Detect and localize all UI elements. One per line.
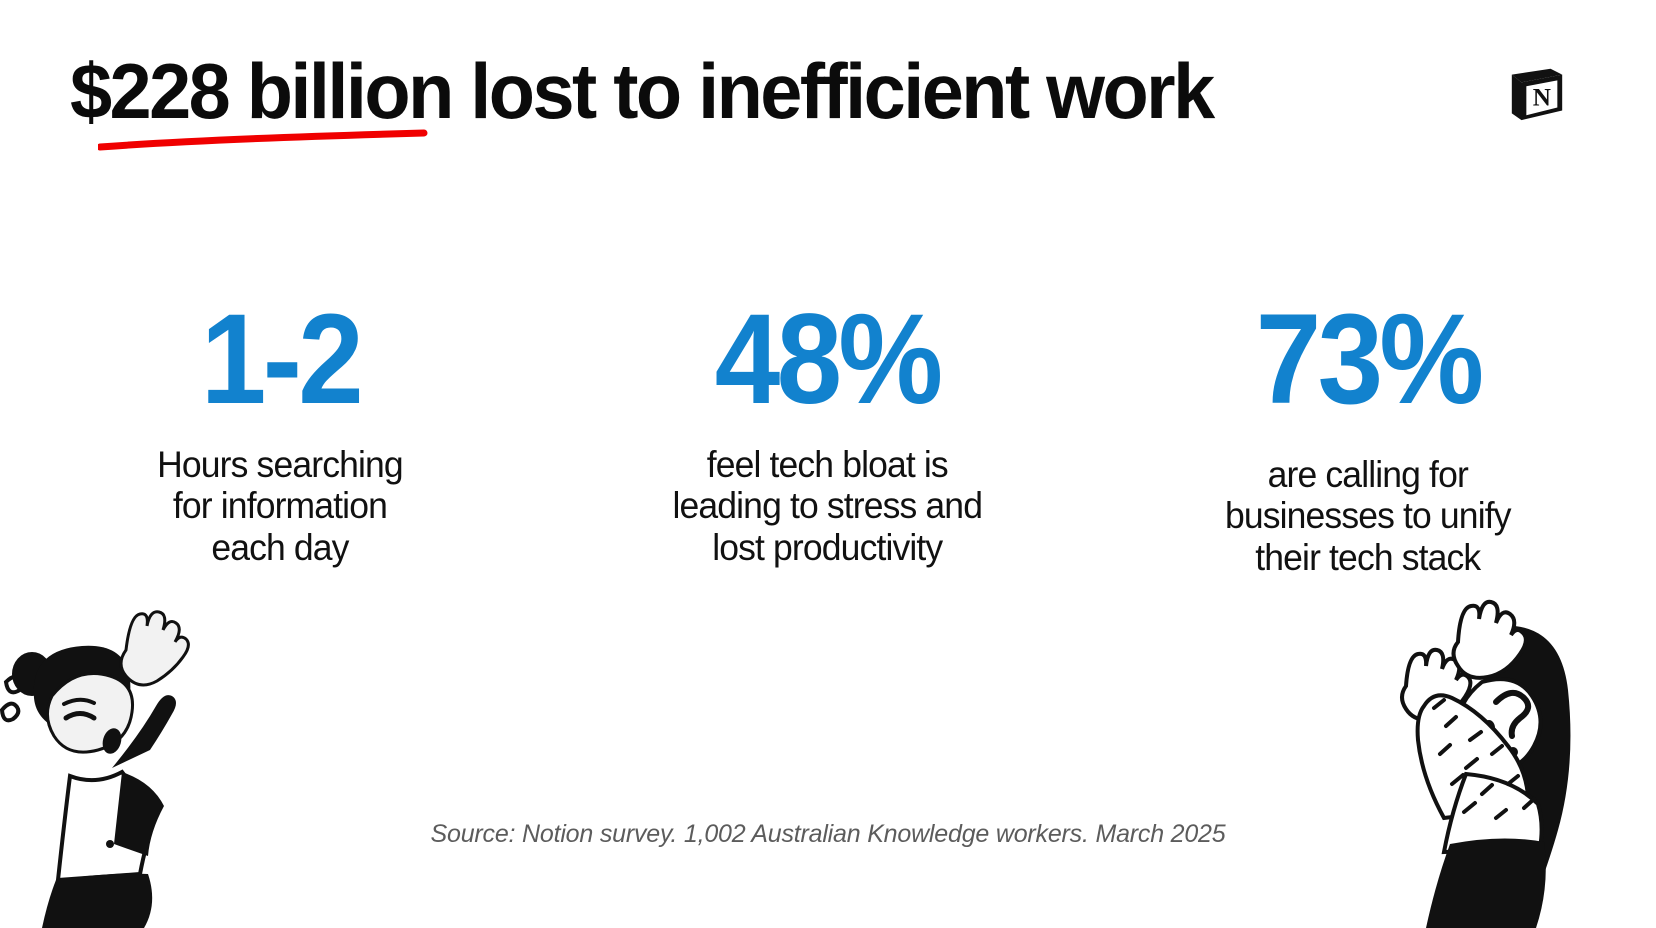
stat-caption: Hours searching for information each day	[157, 444, 403, 568]
stat-value: 48%	[715, 296, 940, 424]
stat-card-tech-bloat: 48% feel tech bloat is leading to stress…	[551, 296, 1098, 578]
stat-caption: are calling for businesses to unify thei…	[1225, 454, 1511, 578]
stats-row: 1-2 Hours searching for information each…	[0, 296, 1656, 578]
stat-value: 1-2	[201, 296, 360, 424]
notion-logo-letter: N	[1533, 85, 1551, 112]
overwhelmed-person-illustration	[1346, 598, 1586, 928]
header: $228 billion lost to inefficient work N	[0, 0, 1656, 190]
stat-value: 73%	[1255, 296, 1480, 424]
stressed-person-illustration	[0, 598, 224, 928]
title-block: $228 billion lost to inefficient work	[70, 52, 1248, 130]
page-title: $228 billion lost to inefficient work	[70, 52, 1213, 130]
stat-card-unify-stack: 73% are calling for businesses to unify …	[1097, 296, 1656, 578]
stat-caption: feel tech bloat is leading to stress and…	[672, 444, 982, 568]
stat-card-hours: 1-2 Hours searching for information each…	[0, 296, 551, 578]
notion-logo[interactable]: N	[1506, 62, 1568, 124]
